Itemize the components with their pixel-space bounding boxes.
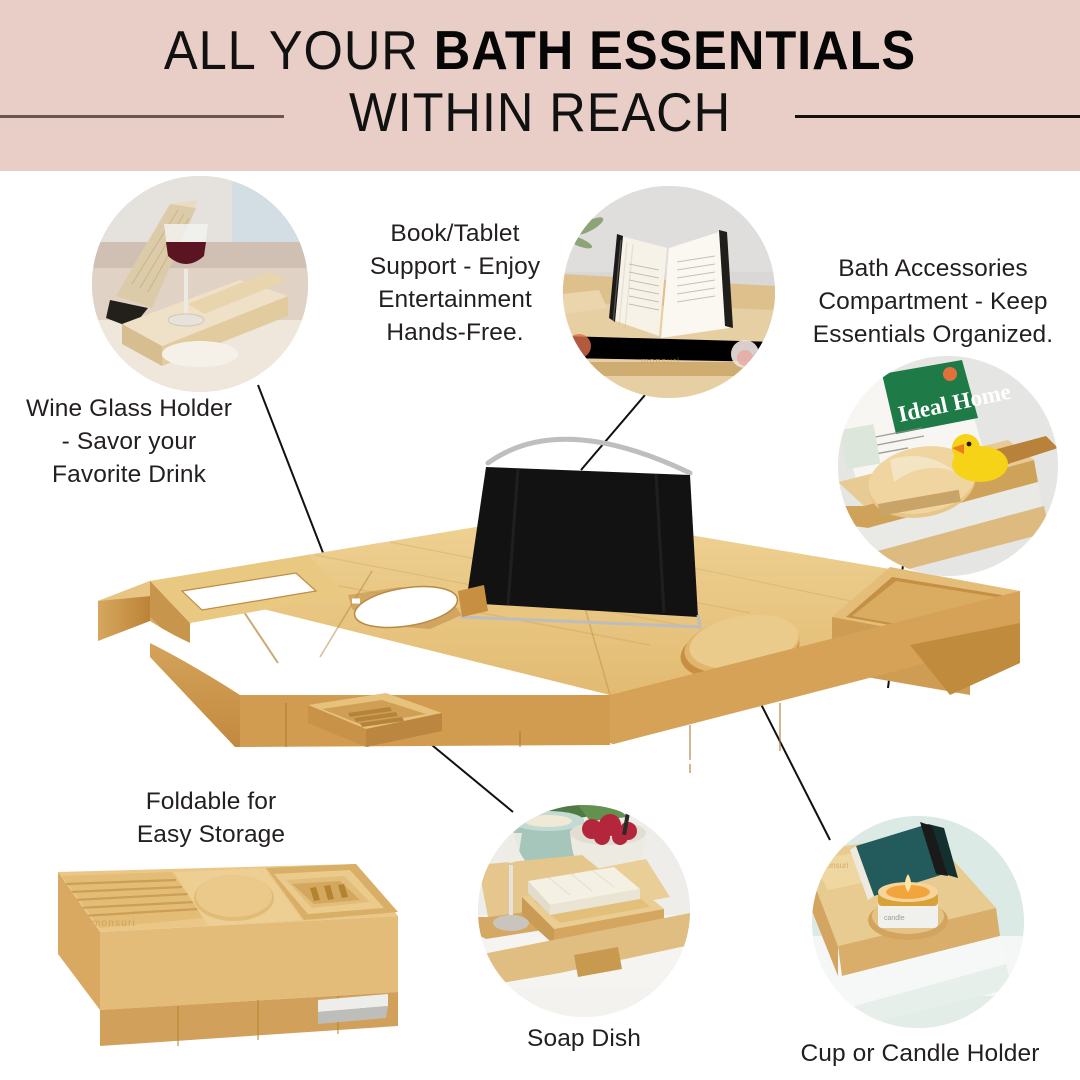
inset-bath-accessories-photo: Ideal Home [838, 356, 1058, 576]
callout-book-tablet-line-2: Support - Enjoy [340, 250, 570, 283]
callout-bath-accessories-line-2: Compartment - Keep [786, 285, 1080, 318]
caddy-bottom-notch [610, 743, 780, 764]
headline-light-text: ALL YOUR [164, 19, 434, 81]
headline-primary: ALL YOUR BATH ESSENTIALS [43, 20, 1037, 80]
book-right-page [661, 232, 729, 338]
callout-wine-glass-line-2: - Savor your [0, 425, 258, 458]
svg-text:candle: candle [884, 915, 905, 922]
callout-foldable-line-2: Easy Storage [78, 818, 344, 851]
inset-folded-tray-photo: monsuri [26, 850, 422, 1070]
callout-book-tablet-line-1: Book/Tablet [340, 217, 570, 250]
svg-text:monsuri: monsuri [820, 861, 849, 870]
callout-foldable-line-1: Foldable for [78, 785, 344, 818]
callout-book-tablet-line-3: Entertainment [340, 283, 570, 316]
callout-cup-candle-line-1: Cup or Candle Holder [770, 1037, 1070, 1070]
callout-wine-glass-holder: Wine Glass Holder - Savor your Favorite … [0, 392, 258, 491]
callout-foldable-storage: Foldable for Easy Storage [78, 785, 344, 851]
callout-bath-accessories-line-1: Bath Accessories [786, 252, 1080, 285]
stand-wire [488, 439, 690, 473]
callout-wine-glass-line-3: Favorite Drink [0, 458, 258, 491]
inset-soap-dish-photo [478, 805, 690, 1017]
callout-cup-candle-holder: Cup or Candle Holder [770, 1037, 1070, 1070]
header-banner: ALL YOUR BATH ESSENTIALS WITHIN REACH [0, 0, 1080, 171]
inset-wine-glass-photo [92, 176, 308, 392]
callout-bath-accessories: Bath Accessories Compartment - Keep Esse… [786, 252, 1080, 351]
callout-soap-dish: Soap Dish [470, 1022, 698, 1055]
callout-bath-accessories-line-3: Essentials Organized. [786, 318, 1080, 351]
headline-bold-text: BATH ESSENTIALS [434, 19, 916, 81]
callout-soap-dish-line-1: Soap Dish [470, 1022, 698, 1055]
book-tablet-stand [458, 439, 700, 627]
svg-text:monsuri: monsuri [92, 918, 136, 929]
headline-secondary: WITHIN REACH [43, 82, 1037, 142]
callout-book-tablet-support: Book/Tablet Support - Enjoy Entertainmen… [340, 217, 570, 349]
callout-wine-glass-line-1: Wine Glass Holder [0, 392, 258, 425]
inset-candle-holder-photo: monsuri candle [812, 816, 1024, 1028]
inset-open-book-photo: monsuri [563, 186, 775, 398]
infographic-canvas: ALL YOUR BATH ESSENTIALS WITHIN REACH [0, 0, 1080, 1080]
callout-book-tablet-line-4: Hands-Free. [340, 316, 570, 349]
svg-text:monsuri: monsuri [641, 356, 680, 366]
